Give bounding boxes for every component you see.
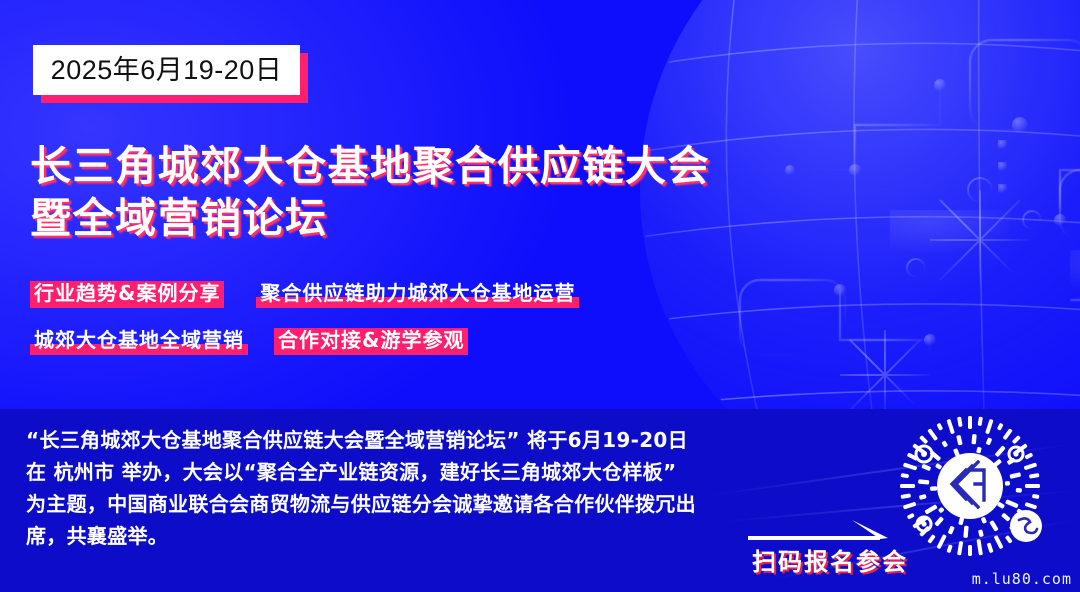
event-description: “长三角城郊大仓基地聚合供应链大会暨全域营销论坛” 将于6月19-20日 在 杭… — [26, 424, 726, 552]
top-panel: 2025年6月19-20日 长三角城郊大仓基地聚合供应链大会 暨全域营销论坛 行… — [0, 0, 1080, 409]
site-watermark: m.lu80.com — [972, 570, 1072, 588]
conference-poster: 2025年6月19-20日 长三角城郊大仓基地聚合供应链大会 暨全域营销论坛 行… — [0, 0, 1080, 592]
qr-code[interactable] — [880, 414, 1060, 564]
date-badge: 2025年6月19-20日 — [33, 45, 300, 95]
description-line-3: 为主题，中国商业联合会商贸物流与供应链分会诚挚邀请各合作伙伴拨冗出 — [26, 488, 726, 520]
topic-tag-omnichannel-marketing: 城郊大仓基地全域营销 — [30, 325, 248, 355]
wechat-miniprogram-qr-icon[interactable] — [880, 414, 1060, 564]
title-line-1: 长三角城郊大仓基地聚合供应链大会 — [30, 140, 810, 192]
date-badge-text: 2025年6月19-20日 — [51, 57, 283, 84]
topic-tag-industry-trends: 行业趋势&案例分享 — [30, 278, 224, 308]
topic-tag-row-1: 行业趋势&案例分享 聚合供应链助力城郊大仓基地运营 — [30, 278, 579, 308]
description-line-4: 席，共襄盛举。 — [26, 520, 726, 552]
topic-tag-supply-chain-ops: 聚合供应链助力城郊大仓基地运营 — [256, 278, 579, 308]
topic-tag-label: 城郊大仓基地全域营销 — [34, 328, 244, 352]
page-title: 长三角城郊大仓基地聚合供应链大会 暨全域营销论坛 — [30, 140, 810, 244]
title-line-2: 暨全域营销论坛 — [30, 192, 810, 244]
topic-tag-row-2: 城郊大仓基地全域营销 合作对接&游学参观 — [30, 325, 468, 355]
topic-tag-cooperation-tour: 合作对接&游学参观 — [274, 325, 468, 355]
topic-tag-label: 行业趋势&案例分享 — [34, 281, 220, 305]
description-line-2: 在 杭州市 举办，大会以“聚合全产业链资源，建好长三角城郊大仓样板” — [26, 456, 726, 488]
description-line-1: “长三角城郊大仓基地聚合供应链大会暨全域营销论坛” 将于6月19-20日 — [26, 424, 726, 456]
topic-tag-label: 合作对接&游学参观 — [278, 328, 464, 352]
topic-tag-label: 聚合供应链助力城郊大仓基地运营 — [260, 281, 575, 305]
